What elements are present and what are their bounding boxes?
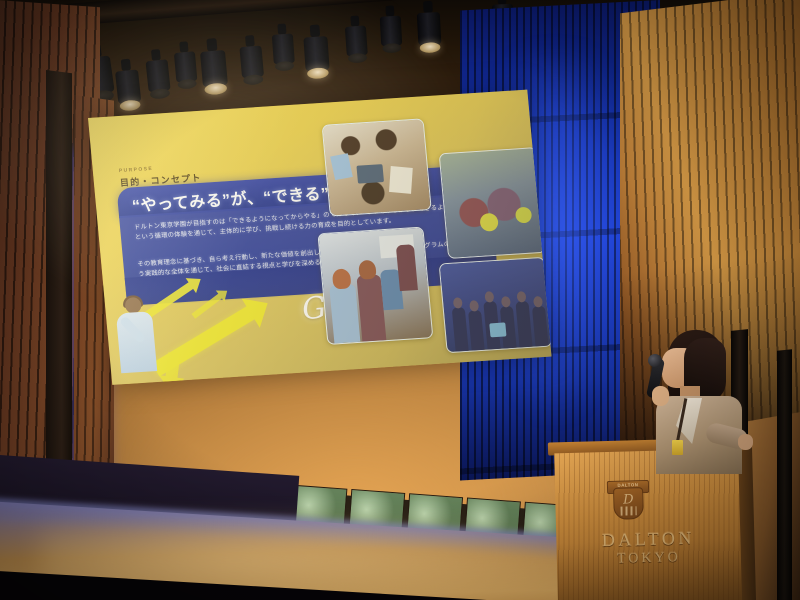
name-badge <box>672 440 683 455</box>
right-structural-column <box>777 349 792 600</box>
slide-photo-group-photo-night <box>439 257 552 353</box>
conference-hall-photo: PURPOSE 目的・コンセプト “やってみる”が、“できる”を育む ドルトン東… <box>0 0 800 600</box>
presentation-slide: PURPOSE 目的・コンセプト “やってみる”が、“できる”を育む ドルトン東… <box>88 90 552 385</box>
projection-screen: PURPOSE 目的・コンセプト “やってみる”が、“できる”を育む ドルトン東… <box>88 90 554 417</box>
arrow-icon <box>165 352 180 379</box>
dalton-crest-icon: DALTON D <box>609 478 646 519</box>
person-illustration <box>110 296 163 375</box>
slide-photo-classroom-discussion <box>317 227 433 345</box>
arrow-icon <box>191 292 223 318</box>
slide-photo-students-tablet-desk <box>322 118 432 216</box>
slide-photo-students-outdoor-activity <box>439 147 546 259</box>
presenter-person <box>646 330 754 470</box>
